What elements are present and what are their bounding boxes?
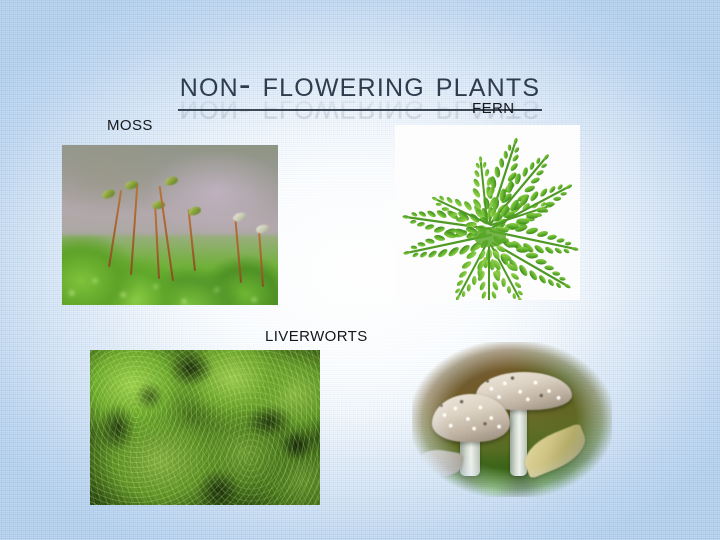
- caption-fern: FERN: [472, 100, 514, 117]
- caption-liverworts: LIVERWORTS: [265, 328, 368, 345]
- moss-capsule: [187, 205, 202, 217]
- moss-capsule: [255, 224, 270, 235]
- image-liverworts: [90, 350, 320, 505]
- liverworts-texture-layer: [90, 350, 320, 505]
- moss-capsule: [232, 211, 247, 222]
- image-moss: [62, 145, 278, 305]
- moss-capsule: [101, 188, 116, 200]
- slide-canvas: Non- Flowering Plants Non- Flowering Pla…: [0, 0, 720, 540]
- moss-capsule: [164, 175, 179, 187]
- caption-moss: MOSS: [107, 117, 153, 134]
- fern-illustration: [395, 125, 580, 300]
- image-mushrooms: [412, 342, 612, 497]
- image-fern: [395, 125, 580, 300]
